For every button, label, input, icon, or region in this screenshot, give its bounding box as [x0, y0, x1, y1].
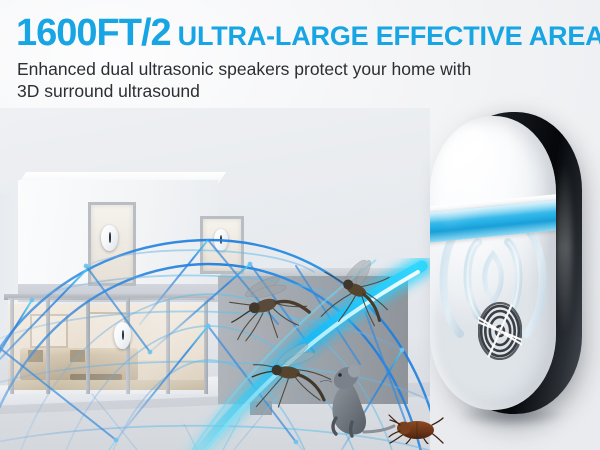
banner-text-block: 1600FT/2ULTRA-LARGE EFFECTIVE AREA Enhan… [16, 14, 588, 103]
mouse [318, 358, 396, 442]
repeller-unit-garage-window [214, 229, 228, 251]
device-white-front-face [430, 116, 556, 410]
glazing-mullion [10, 298, 14, 394]
product-feature-banner: 1600FT/2ULTRA-LARGE EFFECTIVE AREA Enhan… [0, 0, 600, 450]
concentric-speaker-grille [478, 302, 522, 360]
sofa-cushion-left [28, 350, 43, 362]
glazing-mullion [86, 298, 90, 394]
headline-secondary: ULTRA-LARGE EFFECTIVE AREA [178, 21, 600, 51]
repeller-unit-upper-window [101, 225, 118, 251]
subtitle-line-2: 3D surround ultrasound [17, 80, 517, 102]
banner-subtitle: Enhanced dual ultrasonic speakers protec… [17, 58, 517, 103]
glazing-mullion [166, 298, 170, 394]
glazing-head-rail [4, 294, 214, 300]
subtitle-line-1: Enhanced dual ultrasonic speakers protec… [17, 58, 517, 80]
garage-footing [250, 401, 272, 415]
page-title: 1600FT/2ULTRA-LARGE EFFECTIVE AREA [16, 14, 588, 52]
headline-primary: 1600FT/2 [16, 12, 171, 54]
ultrasonic-pest-repeller-plug [430, 112, 588, 428]
glazing-mullion [46, 298, 50, 394]
glazing-mullion [204, 298, 208, 394]
repeller-unit-living-room [114, 322, 131, 349]
room-floor [8, 380, 208, 390]
living-room-interior [8, 304, 208, 390]
sofa-cushion-right [70, 350, 85, 362]
